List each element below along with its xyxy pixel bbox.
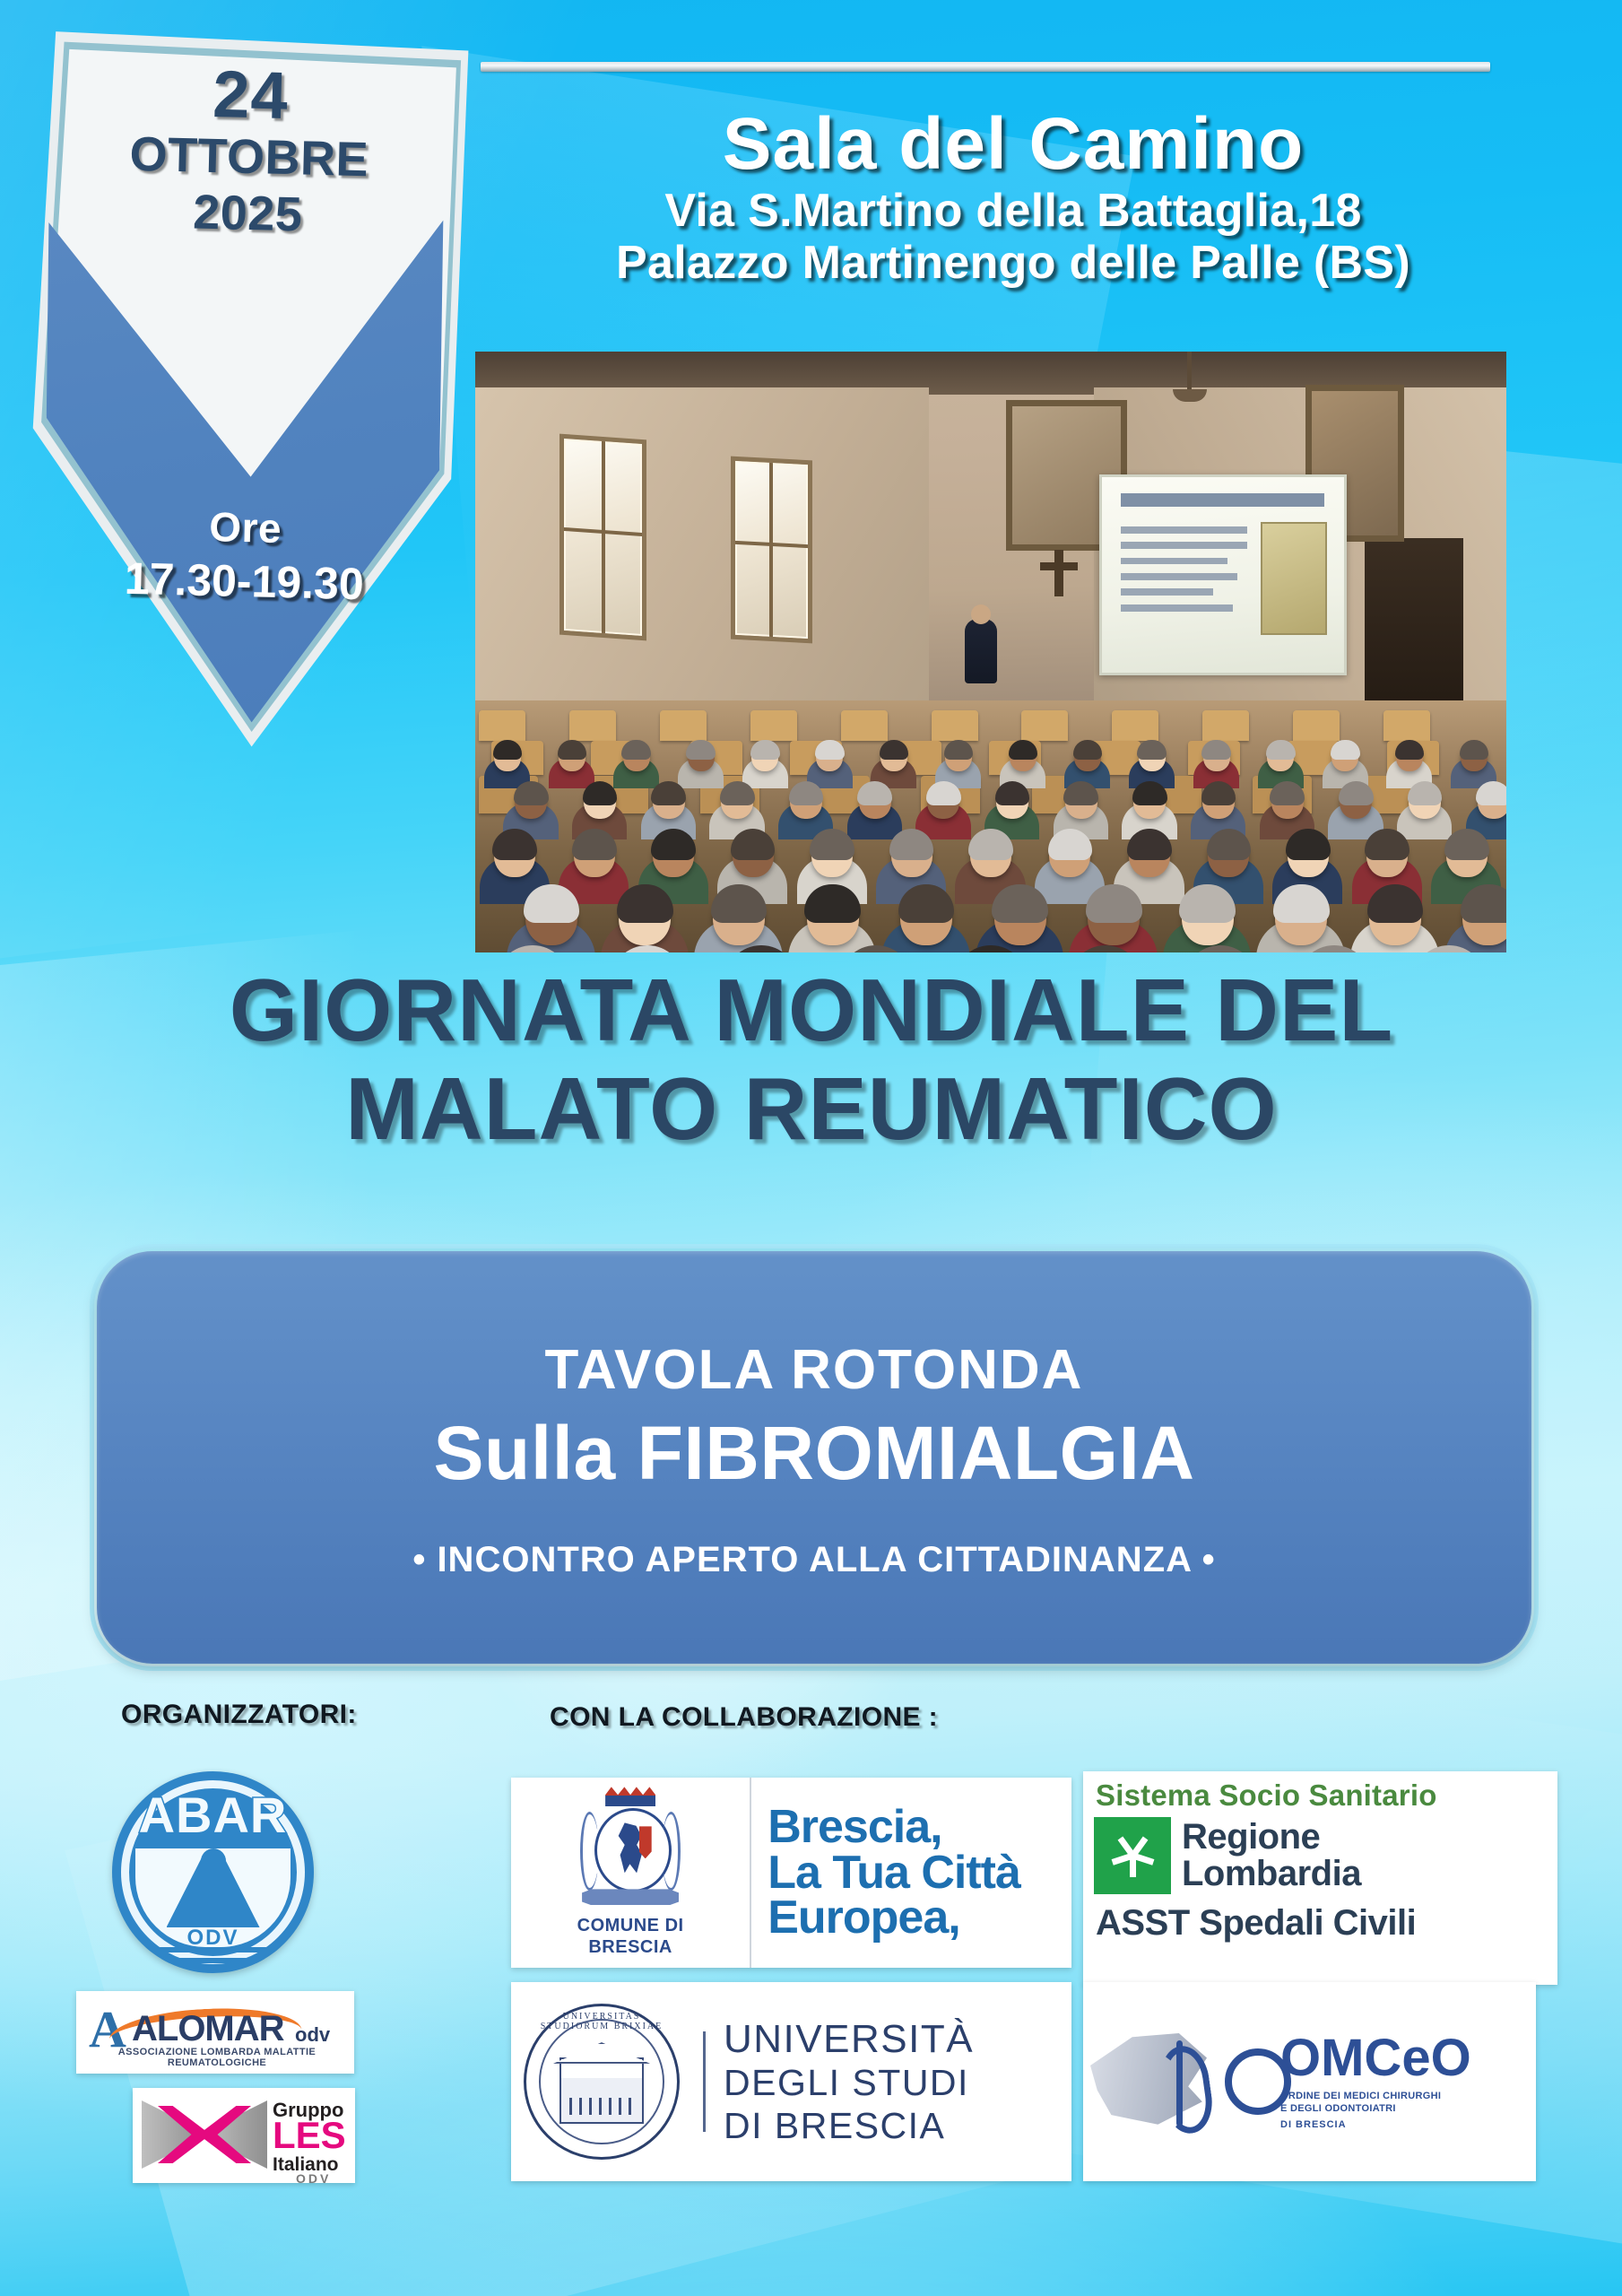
alomar-name: ALOMAR [132, 2009, 284, 2049]
photo-audience-hair [731, 829, 776, 860]
photo-window [731, 457, 812, 644]
logo-gruppo-les: Gruppo LES Italiano ODV [133, 2088, 355, 2183]
photo-chair [569, 710, 616, 741]
snake-icon [1156, 2043, 1216, 2137]
photo-audience-hair [1137, 740, 1166, 761]
omceo-sub-line3: DI BRESCIA [1280, 2118, 1471, 2131]
logo-comune-brescia: COMUNE DI BRESCIA Brescia, La Tua Città … [511, 1778, 1071, 1968]
slogan-line-3: Europea, [768, 1895, 1071, 1941]
lombardy-rose-icon [1094, 1817, 1171, 1894]
regione-name: Regione Lombardia [1182, 1819, 1361, 1892]
photo-audience-hair [514, 781, 549, 805]
slide-text-line [1121, 573, 1237, 580]
photo-chair [1383, 710, 1430, 741]
photo-audience-hair [686, 740, 715, 761]
photo-chair [750, 710, 797, 741]
date-month: OTTOBRE [15, 122, 482, 193]
caduceus-wing-icon [1090, 2019, 1225, 2144]
crown-icon [605, 1787, 655, 1806]
rose-spokes [1112, 1835, 1153, 1876]
alomar-suffix: odv [295, 2023, 330, 2047]
crest-ribbon [582, 1889, 679, 1905]
poster-canvas: 24 OTTOBRE 2025 Ore 17.30-19.30 Sala del… [0, 0, 1622, 2296]
university-name-line3: DI BRESCIA [724, 2105, 974, 2148]
photo-left-wall [475, 387, 929, 724]
photo-chair [1021, 710, 1068, 741]
brescia-caption-line1: COMUNE DI [577, 1916, 684, 1937]
photo-chair [1293, 710, 1340, 741]
venue-name: Sala del Camino [484, 108, 1542, 181]
slide-image [1261, 522, 1327, 635]
photo-chair [1202, 710, 1249, 741]
logo-abar: ABAR ODV [112, 1771, 314, 1973]
omceo-ring-icon [1225, 2048, 1291, 2115]
brescia-caption-line2: BRESCIA [577, 1937, 684, 1959]
slide-text-line [1121, 558, 1227, 565]
photo-chair [479, 710, 525, 741]
photo-chair [841, 710, 888, 741]
omceo-subtitle: ORDINE DEI MEDICI CHIRURGHI E DEGLI ODON… [1280, 2090, 1471, 2131]
abar-wave [144, 1947, 282, 1952]
butterfly-icon [142, 2100, 267, 2170]
footer-logos-section: ORGANIZZATORI: CON LA COLLABORAZIONE : A… [0, 1686, 1622, 2296]
title-line-1: GIORNATA MONDIALE DEL [36, 961, 1587, 1060]
photo-projection-screen [1099, 474, 1347, 675]
venue-address1: Via S.Martino della Battaglia,18 [484, 185, 1542, 237]
logo-regione-lombardia: Sistema Socio Sanitario Regione Lombardi… [1083, 1771, 1557, 1985]
header-divider-rule [481, 62, 1490, 72]
laurel-left-icon [580, 1812, 599, 1891]
date-day: 24 [17, 57, 485, 134]
university-name: UNIVERSITÀ DEGLI STUDI DI BRESCIA [724, 2016, 974, 2147]
les-acronym: LES [273, 2117, 346, 2154]
slide-text-line [1121, 588, 1213, 596]
regione-name-line1: Regione [1182, 1819, 1361, 1856]
photo-window [559, 434, 646, 641]
photo-chair [932, 710, 978, 741]
event-time: Ore 17.30-19.30 [10, 497, 481, 613]
panel-kicker: TAVOLA ROTONDA [545, 1343, 1084, 1398]
omceo-sub-line1: ORDINE DEI MEDICI CHIRURGHI [1280, 2090, 1471, 2102]
abar-wave [160, 1958, 265, 1963]
abar-acronym: ABAR [112, 1786, 314, 1844]
university-name-line1: UNIVERSITÀ [724, 2016, 974, 2062]
page-title: GIORNATA MONDIALE DEL MALATO REUMATICO [36, 961, 1587, 1159]
regione-system-label: Sistema Socio Sanitario [1096, 1780, 1547, 1810]
photo-ceiling-lamp [1187, 352, 1192, 391]
seal-arc-text: UNIVERSITAS STUDIORUM BRIXIAE [526, 2012, 677, 2031]
slogan-line-1: Brescia, [768, 1805, 1071, 1850]
panel-note: • INCONTRO APERTO ALLA CITTADINANZA • [412, 1542, 1215, 1578]
photo-chair [660, 710, 707, 741]
title-line-2: MALATO REUMATICO [36, 1060, 1587, 1159]
organizers-label: ORGANIZZATORI: [121, 1700, 357, 1730]
university-seal-icon: UNIVERSITAS STUDIORUM BRIXIAE [524, 2004, 680, 2160]
regione-identity-row: Regione Lombardia [1094, 1817, 1547, 1894]
photo-audience-area [475, 700, 1506, 952]
brescia-caption: COMUNE DI BRESCIA [577, 1916, 684, 1958]
venue-address2: Palazzo Martinengo delle Palle (BS) [484, 237, 1542, 289]
omceo-acronym: OMCeO [1280, 2032, 1471, 2084]
les-odv: ODV [296, 2171, 331, 2183]
photo-audience-hair [815, 740, 844, 761]
brescia-slogan: Brescia, La Tua Città Europea, [751, 1778, 1071, 1968]
photo-speaker-figure [965, 619, 997, 683]
roundtable-panel: TAVOLA ROTONDA Sulla FIBROMIALGIA • INCO… [97, 1251, 1531, 1664]
university-name-line2: DEGLI STUDI [724, 2062, 974, 2105]
logo-universita-brescia: UNIVERSITAS STUDIORUM BRIXIAE UNIVERSITÀ… [511, 1982, 1071, 2181]
logo-omceo: OMCeO ORDINE DEI MEDICI CHIRURGHI E DEGL… [1083, 1982, 1536, 2181]
time-value: 17.30-19.30 [10, 548, 479, 613]
logo-alomar: A ALOMAR odv ASSOCIAZIONE LOMBARDA MALAT… [76, 1991, 354, 2074]
omceo-text-block: OMCeO ORDINE DEI MEDICI CHIRURGHI E DEGL… [1280, 2032, 1471, 2131]
photo-audience-hair [621, 740, 650, 761]
date-year: 2025 [14, 181, 481, 248]
slide-text-line [1121, 526, 1247, 534]
photo-audience-hair [944, 740, 973, 761]
conference-hall-photo [475, 352, 1506, 952]
alomar-subtitle: ASSOCIAZIONE LOMBARDA MALATTIE REUMATOLO… [87, 2047, 347, 2068]
panel-topic: Sulla FIBROMIALGIA [434, 1411, 1195, 1495]
date-ribbon: 24 OTTOBRE 2025 Ore 17.30-19.30 [16, 20, 482, 757]
omceo-acronym-wrap: OMCeO [1280, 2032, 1471, 2084]
regione-name-line2: Lombardia [1182, 1856, 1361, 1892]
crucifix-icon [1054, 550, 1063, 596]
photo-audience-hair [1286, 829, 1331, 860]
photo-audience-hair [1460, 740, 1488, 761]
slide-text-line [1121, 542, 1247, 549]
logo-divider [703, 2031, 706, 2132]
event-date: 24 OTTOBRE 2025 [14, 57, 485, 248]
venue-header: Sala del Camino Via S.Martino della Batt… [484, 108, 1542, 289]
collaboration-label: CON LA COLLABORAZIONE : [550, 1702, 938, 1733]
seal-building-icon [559, 2057, 644, 2125]
photo-audience-hair [1331, 740, 1359, 761]
photo-audience-hair [1201, 740, 1230, 761]
photo-chair [1112, 710, 1158, 741]
photo-audience-hair [1266, 740, 1295, 761]
photo-audience-hair [1408, 781, 1443, 805]
brescia-crest-block: COMUNE DI BRESCIA [511, 1778, 751, 1968]
slide-title-bar [1121, 493, 1324, 507]
photo-audience-hair [558, 740, 586, 761]
omceo-sub-line2: E DEGLI ODONTOIATRI [1280, 2102, 1471, 2115]
roundtable-panel-wrapper: TAVOLA ROTONDA Sulla FIBROMIALGIA • INCO… [97, 1251, 1531, 1664]
photo-audience-hair [572, 829, 617, 860]
slogan-line-2: La Tua Città [768, 1850, 1071, 1896]
asst-label: ASST Spedali Civili [1096, 1905, 1547, 1941]
slide-text-line [1121, 604, 1232, 612]
photo-doorway [1365, 538, 1462, 712]
coat-of-arms-icon [577, 1787, 684, 1912]
laurel-right-icon [662, 1812, 681, 1891]
photo-audience-hair [750, 740, 779, 761]
photo-audience-hair [1444, 829, 1489, 860]
